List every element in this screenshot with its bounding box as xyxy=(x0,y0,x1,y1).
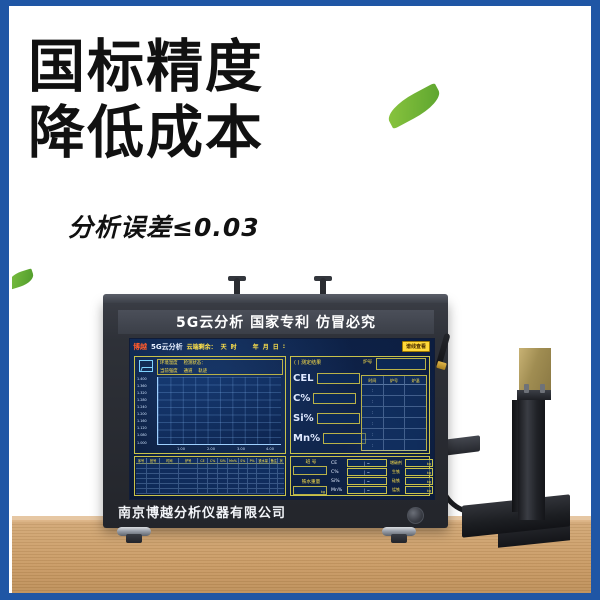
history-cell xyxy=(405,440,426,451)
result-row-c: C% xyxy=(293,393,356,404)
frame-border-inner xyxy=(9,6,12,600)
intensity-plot[interactable] xyxy=(157,377,281,445)
amount-field[interactable]: kg xyxy=(405,486,433,494)
brand-en-label: 5G云分析 xyxy=(151,342,183,352)
weight-unit-label: kg xyxy=(321,490,325,494)
power-knob-icon[interactable] xyxy=(407,507,424,524)
y-tick: 1.400 xyxy=(137,377,147,381)
material-label: 生铁 xyxy=(389,469,403,475)
x-tick: 2.00 xyxy=(207,447,215,451)
unit-label: kg xyxy=(427,462,431,466)
range-field[interactable]: | ~ xyxy=(347,486,387,494)
history-cell xyxy=(384,385,406,396)
result-row-mn: Mn% xyxy=(293,433,366,444)
frame-border-right xyxy=(591,0,600,600)
history-cell: : xyxy=(362,429,384,440)
probe-status-label: 检测状态： xyxy=(184,361,206,367)
history-cell xyxy=(405,385,426,396)
table-row[interactable]: : xyxy=(362,396,426,407)
chart-panel: 环境温度 检测状态： 当前强度 通道 轨迹 1.400 1.360 1.320 … xyxy=(134,356,286,454)
history-cell xyxy=(384,440,406,451)
y-tick: 1.120 xyxy=(137,426,147,430)
frame-border-top xyxy=(0,0,600,6)
result-panel-title: ( ) 测定结果 xyxy=(294,359,321,366)
history-cell: : xyxy=(362,385,384,396)
y-tick: 1.080 xyxy=(137,433,147,437)
result-label: Mn% xyxy=(293,433,320,444)
furnace-number-input[interactable] xyxy=(376,358,426,370)
spectrum-view-button[interactable]: 谱线查看 xyxy=(402,341,430,352)
history-cell xyxy=(384,429,406,440)
shift-number-label: 班 号 xyxy=(293,459,329,465)
calc-row-si: Si% | ~ 硅铁 kg xyxy=(331,477,433,485)
table-row[interactable]: : xyxy=(362,429,426,440)
history-header-cell: 时间 xyxy=(362,376,384,385)
device-foot xyxy=(382,527,416,543)
history-cell: : xyxy=(362,440,384,451)
element-label: C% xyxy=(331,470,345,475)
history-cell: : xyxy=(362,418,384,429)
poster-canvas: 国标精度 降低成本 分析误差≤0.03 5G云分析 国家专利 仿冒必究 博越 5… xyxy=(0,0,600,600)
unit-label: kg xyxy=(427,489,431,493)
history-table[interactable]: 时间 炉号 炉温 : : : xyxy=(361,375,427,451)
iron-weight-label: 铁水重量 xyxy=(293,479,329,485)
result-row-si: Si% xyxy=(293,413,360,424)
table-row[interactable]: : xyxy=(362,440,426,451)
probe-pin-icon xyxy=(524,384,529,393)
table-row[interactable]: : xyxy=(362,407,426,418)
result-label: C% xyxy=(293,393,310,404)
cloud-remaining-label: 云端剩余： xyxy=(187,342,217,351)
x-tick: 3.00 xyxy=(237,447,245,451)
history-header-row: 时间 炉号 炉温 xyxy=(362,376,426,385)
history-cell xyxy=(405,396,426,407)
device-top-banner: 5G云分析 国家专利 仿冒必究 xyxy=(118,310,434,334)
leaf-icon xyxy=(383,83,445,130)
date-month-label: 月 xyxy=(263,342,269,351)
table-row[interactable]: : xyxy=(362,385,426,396)
charge-calc-panel: 班 号 铁水重量 kg CE | ~ 增碳剂 kg C% | ~ 生铁 kg xyxy=(290,456,430,496)
frame-border-left xyxy=(0,0,9,600)
calc-left-column: 班 号 铁水重量 kg xyxy=(293,459,329,495)
brand-cn-label: 博越 xyxy=(133,342,147,352)
amount-field[interactable]: kg xyxy=(405,477,433,485)
material-label: 增碳剂 xyxy=(389,460,403,466)
y-tick: 1.240 xyxy=(137,405,147,409)
page-title: 国标精度 降低成本 xyxy=(28,34,388,166)
table-row[interactable] xyxy=(136,489,284,494)
material-label: 硅铁 xyxy=(389,478,403,484)
unit-label: kg xyxy=(427,480,431,484)
waveform-icon xyxy=(139,360,153,372)
device-foot xyxy=(117,527,151,543)
y-tick: 1.000 xyxy=(137,441,147,445)
result-label: Si% xyxy=(293,413,314,424)
x-tick: 1.00 xyxy=(177,447,185,451)
range-field[interactable]: | ~ xyxy=(347,468,387,476)
chart-status-box: 环境温度 检测状态： 当前强度 通道 轨迹 xyxy=(157,359,283,375)
amount-field[interactable]: kg xyxy=(405,468,433,476)
result-value-field[interactable] xyxy=(323,433,366,444)
range-field[interactable]: | ~ xyxy=(347,477,387,485)
amount-field[interactable]: kg xyxy=(405,459,433,467)
x-tick: 4.00 xyxy=(266,447,274,451)
element-label: CE xyxy=(331,461,345,466)
channel-label: 通道 xyxy=(184,369,193,375)
data-log-panel[interactable]: 序号 班号 时间 炉号 CE C% Si% Mn% S% P% 铁水量 备注 状… xyxy=(134,456,286,496)
calc-row-c: C% | ~ 生铁 kg xyxy=(331,468,433,476)
material-label: 锰铁 xyxy=(389,487,403,493)
result-value-field[interactable] xyxy=(317,413,360,424)
history-cell: : xyxy=(362,396,384,407)
history-header-cell: 炉号 xyxy=(384,376,406,385)
unit-day-label: 天 xyxy=(221,342,227,351)
result-value-field[interactable] xyxy=(313,393,356,404)
furnace-number-label: 炉号 xyxy=(363,359,372,365)
history-header-cell: 炉温 xyxy=(405,376,426,385)
date-day-label: 日 xyxy=(273,342,279,351)
y-tick: 1.280 xyxy=(137,398,147,402)
y-tick: 1.320 xyxy=(137,391,147,395)
subtitle: 分析误差≤0.03 xyxy=(68,208,260,244)
history-cell xyxy=(384,418,406,429)
shift-number-input[interactable] xyxy=(293,466,327,475)
calc-row-ce: CE | ~ 增碳剂 kg xyxy=(331,459,433,467)
y-tick: 1.200 xyxy=(137,412,147,416)
date-year-label: 年 xyxy=(253,342,259,351)
position-label: 轨迹 xyxy=(198,369,207,375)
calc-row-mn: Mn% | ~ 锰铁 kg xyxy=(331,486,433,494)
history-cell xyxy=(384,407,406,418)
unit-label: kg xyxy=(427,471,431,475)
history-cell xyxy=(405,407,426,418)
y-tick: 1.360 xyxy=(137,384,147,388)
history-cell xyxy=(405,418,426,429)
table-row[interactable]: : xyxy=(362,418,426,429)
result-label: CEL xyxy=(293,373,314,384)
current-intensity-label: 当前强度 xyxy=(160,369,178,375)
iron-weight-input[interactable]: kg xyxy=(293,486,327,495)
headline-line-2: 降低成本 xyxy=(28,100,388,166)
history-cell xyxy=(384,396,406,407)
probe-pin-icon xyxy=(540,384,545,393)
result-panel: ( ) 测定结果 炉号 CEL C% Si% Mn% 时间 xyxy=(290,356,430,454)
result-row-cel: CEL xyxy=(293,373,360,384)
headline-line-1: 国标精度 xyxy=(28,34,264,100)
history-cell xyxy=(405,429,426,440)
range-field[interactable]: | ~ xyxy=(347,459,387,467)
y-tick: 1.160 xyxy=(137,419,147,423)
probe-stand-neck xyxy=(517,390,551,400)
data-log-table[interactable]: 序号 班号 时间 炉号 CE C% Si% Mn% S% P% 铁水量 备注 状… xyxy=(136,458,284,494)
history-cell: : xyxy=(362,407,384,418)
element-label: Si% xyxy=(331,479,345,484)
result-value-field[interactable] xyxy=(317,373,360,384)
unit-hour-label: 时 xyxy=(231,342,237,351)
frame-border-bottom xyxy=(0,593,600,600)
screen-header: 博越 5G云分析 云端剩余： 天 时 年 月 日 : 谱线查看 xyxy=(130,339,434,354)
lcd-screen[interactable]: 博越 5G云分析 云端剩余： 天 时 年 月 日 : 谱线查看 环境温度 检测状… xyxy=(129,338,435,500)
device-top-face xyxy=(103,294,448,303)
env-temp-label: 环境温度 xyxy=(160,361,178,367)
company-name: 南京博越分析仪器有限公司 xyxy=(118,502,286,521)
time-colon-label: : xyxy=(283,343,285,350)
probe-stand-column xyxy=(518,395,545,520)
element-label: Mn% xyxy=(331,488,345,493)
